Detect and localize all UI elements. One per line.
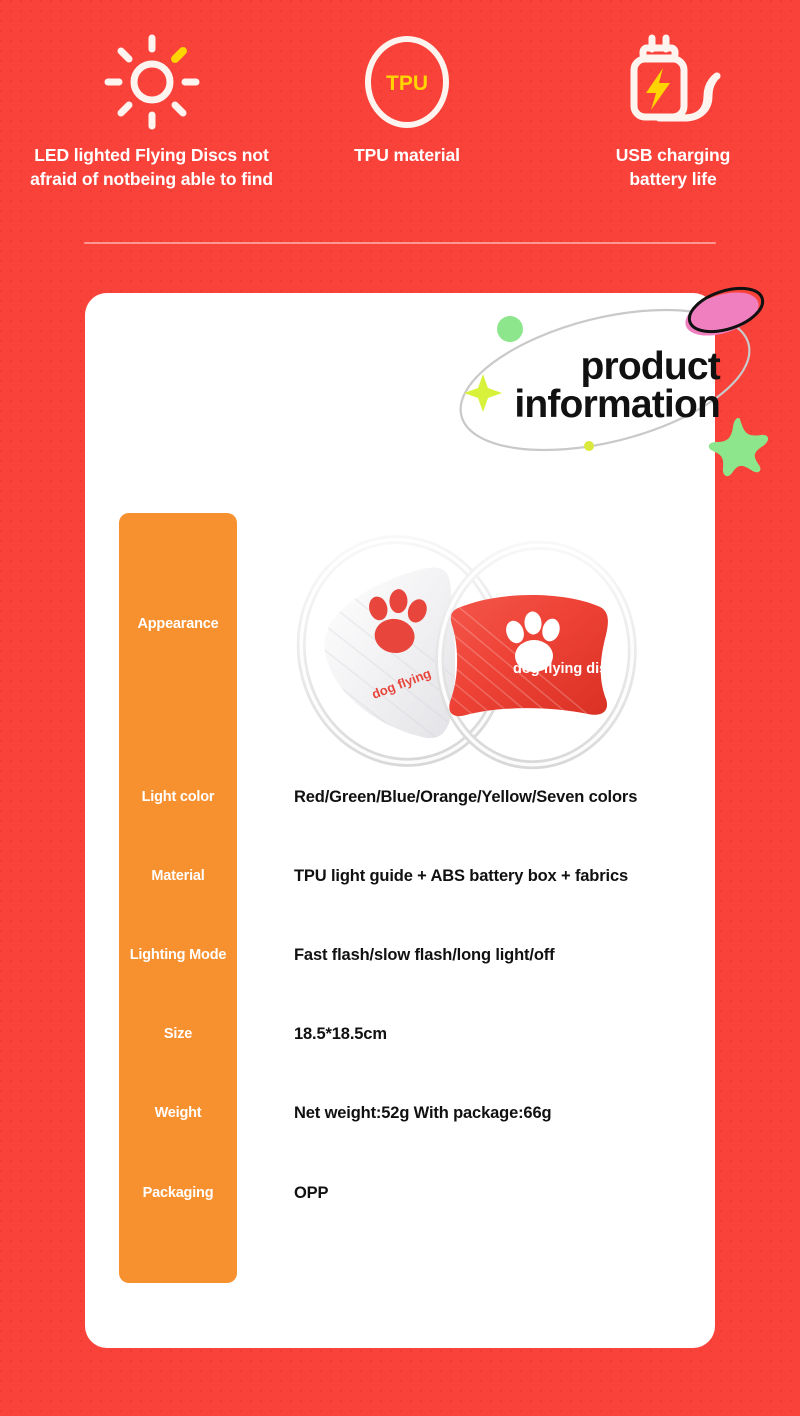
feature-led-lighted: LED lighted Flying Discs not afraid of n… (14, 26, 289, 191)
feature-tpu-material: TPU TPU material (307, 26, 507, 168)
spec-value-light-color: Red/Green/Blue/Orange/Yellow/Seven color… (294, 788, 637, 807)
feature-led-caption: LED lighted Flying Discs not afraid of n… (14, 144, 289, 191)
spec-label-material: Material (119, 868, 237, 884)
spec-label-size: Size (119, 1026, 237, 1042)
usb-battery-charging-icon (578, 26, 768, 138)
page-title: product information (430, 348, 720, 424)
spec-value-material: TPU light guide + ABS battery box + fabr… (294, 867, 628, 886)
spec-label-light-color: Light color (119, 789, 237, 805)
spec-label-weight: Weight (119, 1105, 237, 1121)
spec-value-size: 18.5*18.5cm (294, 1025, 387, 1044)
feature-usb-charging: USB charging battery life (578, 26, 768, 191)
spec-value-weight: Net weight:52g With package:66g (294, 1104, 551, 1123)
spec-value-lighting-mode: Fast flash/slow flash/long light/off (294, 946, 554, 965)
feature-usb-caption: USB charging battery life (578, 144, 768, 191)
spec-label-packaging: Packaging (119, 1185, 237, 1201)
product-photo-flying-discs: dog flying dog flying disc (262, 503, 682, 778)
spec-label-lighting-mode: Lighting Mode (119, 947, 237, 963)
tpu-circle-icon: TPU (307, 26, 507, 138)
spec-label-appearance: Appearance (119, 616, 237, 632)
spec-value-packaging: OPP (294, 1184, 328, 1203)
green-star-shape (707, 415, 773, 481)
red-disc-brand-text: dog flying disc (513, 661, 615, 677)
feature-divider (84, 242, 716, 244)
feature-tpu-caption: TPU material (307, 144, 507, 168)
sun-icon (14, 26, 289, 138)
tpu-icon-label: TPU (386, 72, 428, 95)
pink-ellipse-sticker (678, 283, 770, 339)
lightning-bolt-icon (646, 68, 670, 110)
feature-strip: LED lighted Flying Discs not afraid of n… (0, 0, 800, 250)
